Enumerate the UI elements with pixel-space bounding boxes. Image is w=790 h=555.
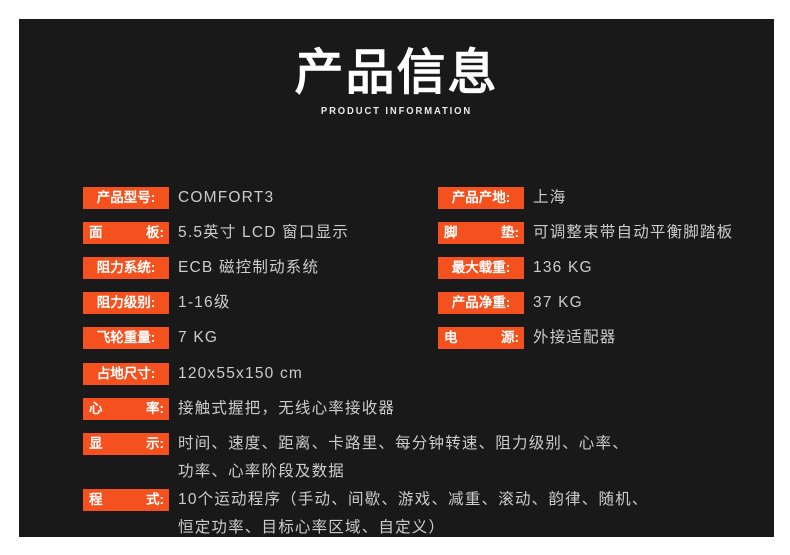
spec-row-net-weight: 产品净重: 37 KG: [438, 292, 583, 314]
spec-label-part-b: 率:: [146, 398, 164, 420]
spec-value: 136 KG: [533, 257, 593, 279]
spec-value: 10个运动程序（手动、间歇、游戏、减重、滚动、韵律、随机、 恒定功率、目标心率区…: [178, 486, 750, 537]
spec-row-panel: 面 板: 5.5英寸 LCD 窗口显示: [83, 222, 349, 244]
spec-value: 37 KG: [533, 292, 583, 314]
spec-label-part-a: 面: [89, 222, 103, 244]
spec-value: ECB 磁控制动系统: [178, 257, 319, 279]
spec-label-part-a: 脚: [444, 222, 458, 244]
spec-row-resistance-system: 阻力系统: ECB 磁控制动系统: [83, 257, 319, 279]
spec-row-resistance-levels: 阻力级别: 1-16级: [83, 292, 231, 314]
spec-value: 1-16级: [178, 292, 231, 314]
spec-row-footpad: 脚 垫: 可调整束带自动平衡脚踏板: [438, 222, 733, 244]
spec-label-part-b: 板:: [146, 222, 164, 244]
spec-label: 产品净重:: [438, 292, 524, 314]
spec-row-display: 显 示: 时间、速度、距离、卡路里、每分钟转速、阻力级别、心率、 功率、心率阶段…: [83, 433, 750, 486]
spec-row-programs: 程 式: 10个运动程序（手动、间歇、游戏、减重、滚动、韵律、随机、 恒定功率、…: [83, 489, 750, 537]
spec-label-part-a: 程: [89, 489, 103, 511]
spec-label-part-b: 源:: [501, 327, 519, 349]
spec-label-part-b: 式:: [146, 489, 164, 511]
spec-label-part-b: 示:: [146, 433, 164, 455]
spec-label-part-a: 心: [89, 398, 103, 420]
spec-label: 产品型号:: [83, 187, 169, 209]
spec-label: 心 率:: [83, 398, 169, 420]
page-title: 产品信息: [19, 19, 774, 100]
spec-row-origin: 产品产地: 上海: [438, 187, 566, 209]
spec-row-model: 产品型号: COMFORT3: [83, 187, 274, 209]
spec-value: 时间、速度、距离、卡路里、每分钟转速、阻力级别、心率、 功率、心率阶段及数据: [178, 430, 750, 486]
spec-row-max-load: 最大载重: 136 KG: [438, 257, 593, 279]
spec-value: COMFORT3: [178, 187, 274, 209]
spec-label: 阻力系统:: [83, 257, 169, 279]
spec-label: 显 示:: [83, 433, 169, 455]
product-info-panel: 产品信息 PRODUCT INFORMATION 产品型号: COMFORT3 …: [19, 19, 774, 537]
spec-label: 最大载重:: [438, 257, 524, 279]
spec-row-flywheel-weight: 飞轮重量: 7 KG: [83, 327, 218, 349]
spec-row-footprint: 占地尺寸: 120x55x150 cm: [83, 363, 303, 385]
spec-value: 5.5英寸 LCD 窗口显示: [178, 222, 349, 244]
spec-label-part-b: 垫:: [501, 222, 519, 244]
spec-value: 7 KG: [178, 327, 218, 349]
spec-label: 阻力级别:: [83, 292, 169, 314]
spec-label: 飞轮重量:: [83, 327, 169, 349]
page-subtitle: PRODUCT INFORMATION: [57, 100, 737, 118]
spec-label-part-a: 显: [89, 433, 103, 455]
spec-label: 电 源:: [438, 327, 524, 349]
spec-label: 占地尺寸:: [83, 363, 169, 385]
spec-label: 程 式:: [83, 489, 169, 511]
spec-value: 120x55x150 cm: [178, 363, 303, 385]
spec-value: 外接适配器: [533, 327, 617, 349]
spec-value: 上海: [533, 187, 566, 209]
spec-value: 接触式握把，无线心率接收器: [178, 398, 750, 420]
spec-row-power-source: 电 源: 外接适配器: [438, 327, 617, 349]
spec-label: 产品产地:: [438, 187, 524, 209]
spec-row-heart-rate: 心 率: 接触式握把，无线心率接收器: [83, 398, 750, 420]
spec-label: 面 板:: [83, 222, 169, 244]
spec-label: 脚 垫:: [438, 222, 524, 244]
spec-label-part-a: 电: [444, 327, 458, 349]
panel-header: 产品信息 PRODUCT INFORMATION: [19, 19, 774, 118]
spec-value: 可调整束带自动平衡脚踏板: [533, 222, 733, 244]
